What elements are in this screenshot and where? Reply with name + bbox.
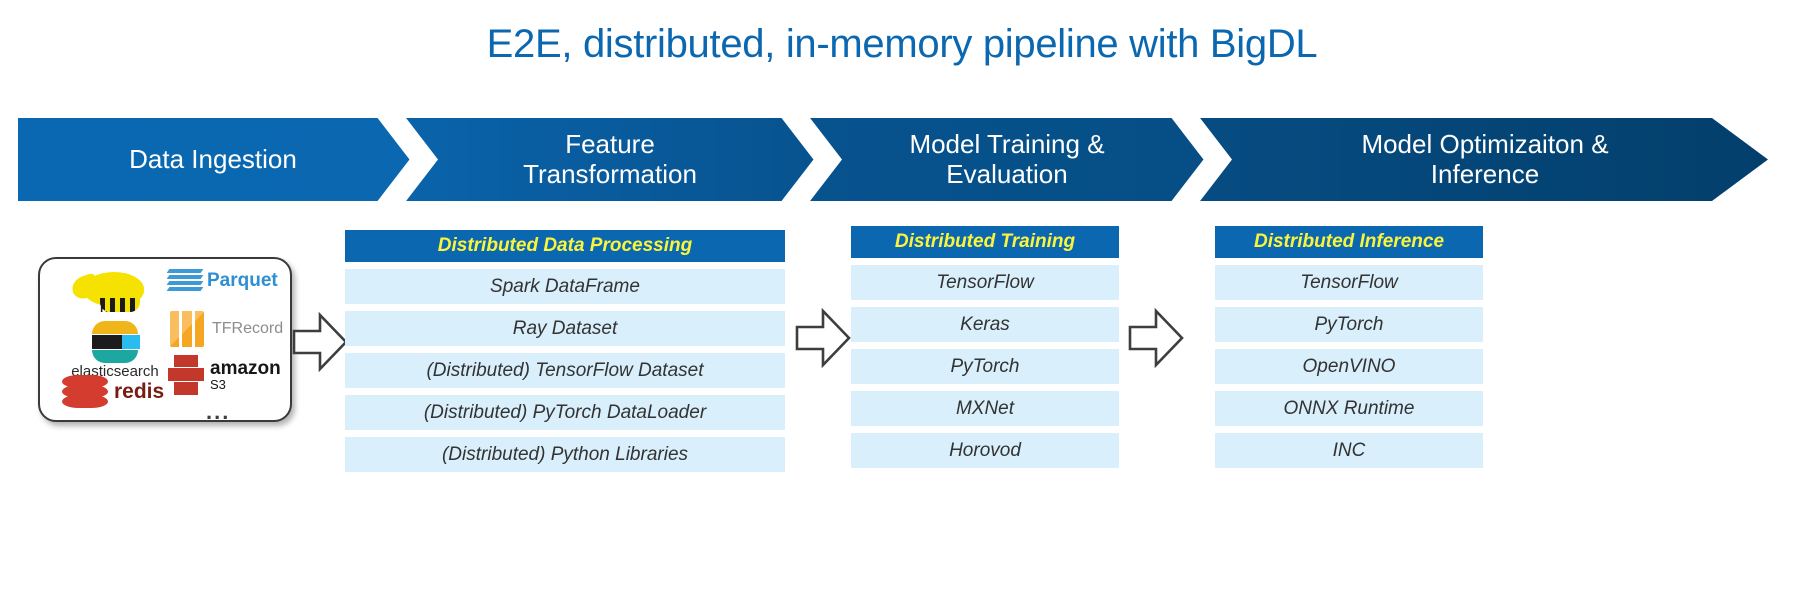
stack-item[interactable]: INC (1215, 433, 1483, 468)
tfrecord-logo: TFRecord (168, 309, 292, 349)
stack-header: Distributed Data Processing (345, 230, 785, 262)
stack-item[interactable]: (Distributed) TensorFlow Dataset (345, 353, 785, 388)
stack-item[interactable]: (Distributed) PyTorch DataLoader (345, 395, 785, 430)
more-sources-ellipsis: ... (206, 399, 230, 422)
pipeline-banner: Data Ingestion Feature Transformation Mo… (18, 118, 1804, 201)
parquet-logo-label: Parquet (207, 270, 278, 292)
stack-distributed-inference: Distributed Inference TensorFlow PyTorch… (1215, 226, 1483, 468)
stack-item[interactable]: Ray Dataset (345, 311, 785, 346)
pipeline-stage-feature-transformation[interactable]: Feature Transformation (408, 118, 812, 201)
stack-item[interactable]: Horovod (851, 433, 1119, 468)
pipeline-stage-label: Data Ingestion (129, 145, 297, 174)
flow-arrow-icon (292, 311, 348, 373)
stack-header: Distributed Training (851, 226, 1119, 258)
redis-logo-label: redis (114, 380, 164, 404)
stack-item[interactable]: PyTorch (1215, 307, 1483, 342)
hive-icon (84, 272, 144, 306)
parquet-icon (168, 267, 202, 295)
data-sources-card: HIVE elasticsearch redis Parquet (38, 257, 292, 422)
tfrecord-logo-label: TFRecord (212, 320, 283, 338)
pipeline-stage-label-line1: Feature (523, 130, 697, 159)
stack-header: Distributed Inference (1215, 226, 1483, 258)
pipeline-stage-label-line2: Inference (1361, 160, 1608, 189)
stack-distributed-training: Distributed Training TensorFlow Keras Py… (851, 226, 1119, 468)
stack-item[interactable]: TensorFlow (851, 265, 1119, 300)
pipeline-stage-model-optimization[interactable]: Model Optimizaiton & Inference (1202, 118, 1768, 201)
slide-canvas: E2E, distributed, in-memory pipeline wit… (0, 0, 1804, 601)
tfrecord-icon (168, 309, 206, 349)
stack-item[interactable]: OpenVINO (1215, 349, 1483, 384)
flow-arrow-icon (1128, 307, 1184, 369)
pipeline-stage-label-line2: Evaluation (909, 160, 1104, 189)
pipeline-stage-label-line1: Model Training & (909, 130, 1104, 159)
stack-item[interactable]: (Distributed) Python Libraries (345, 437, 785, 472)
elasticsearch-logo: elasticsearch (54, 321, 176, 380)
pipeline-stage-label-line1: Model Optimizaiton & (1361, 130, 1608, 159)
stack-distributed-data-processing: Distributed Data Processing Spark DataFr… (345, 230, 785, 472)
stack-item[interactable]: Spark DataFrame (345, 269, 785, 304)
amazon-s3-logo: amazon S3 (168, 355, 292, 395)
stack-item[interactable]: ONNX Runtime (1215, 391, 1483, 426)
parquet-logo: Parquet (168, 267, 292, 295)
pipeline-stage-label-line2: Transformation (523, 160, 697, 189)
stack-item[interactable]: Keras (851, 307, 1119, 342)
pipeline-stage-data-ingestion[interactable]: Data Ingestion (18, 118, 408, 201)
amazon-s3-logo-label-top: amazon (210, 359, 281, 378)
elasticsearch-icon (92, 321, 138, 363)
amazon-s3-icon (168, 355, 204, 395)
flow-arrow-icon (795, 307, 851, 369)
pipeline-stage-model-training[interactable]: Model Training & Evaluation (812, 118, 1202, 201)
page-title: E2E, distributed, in-memory pipeline wit… (0, 22, 1804, 67)
amazon-s3-logo-label-bottom: S3 (210, 378, 281, 391)
stack-item[interactable]: MXNet (851, 391, 1119, 426)
hive-logo: HIVE (60, 265, 168, 321)
stack-item[interactable]: TensorFlow (1215, 265, 1483, 300)
redis-icon (62, 375, 108, 409)
stack-item[interactable]: PyTorch (851, 349, 1119, 384)
